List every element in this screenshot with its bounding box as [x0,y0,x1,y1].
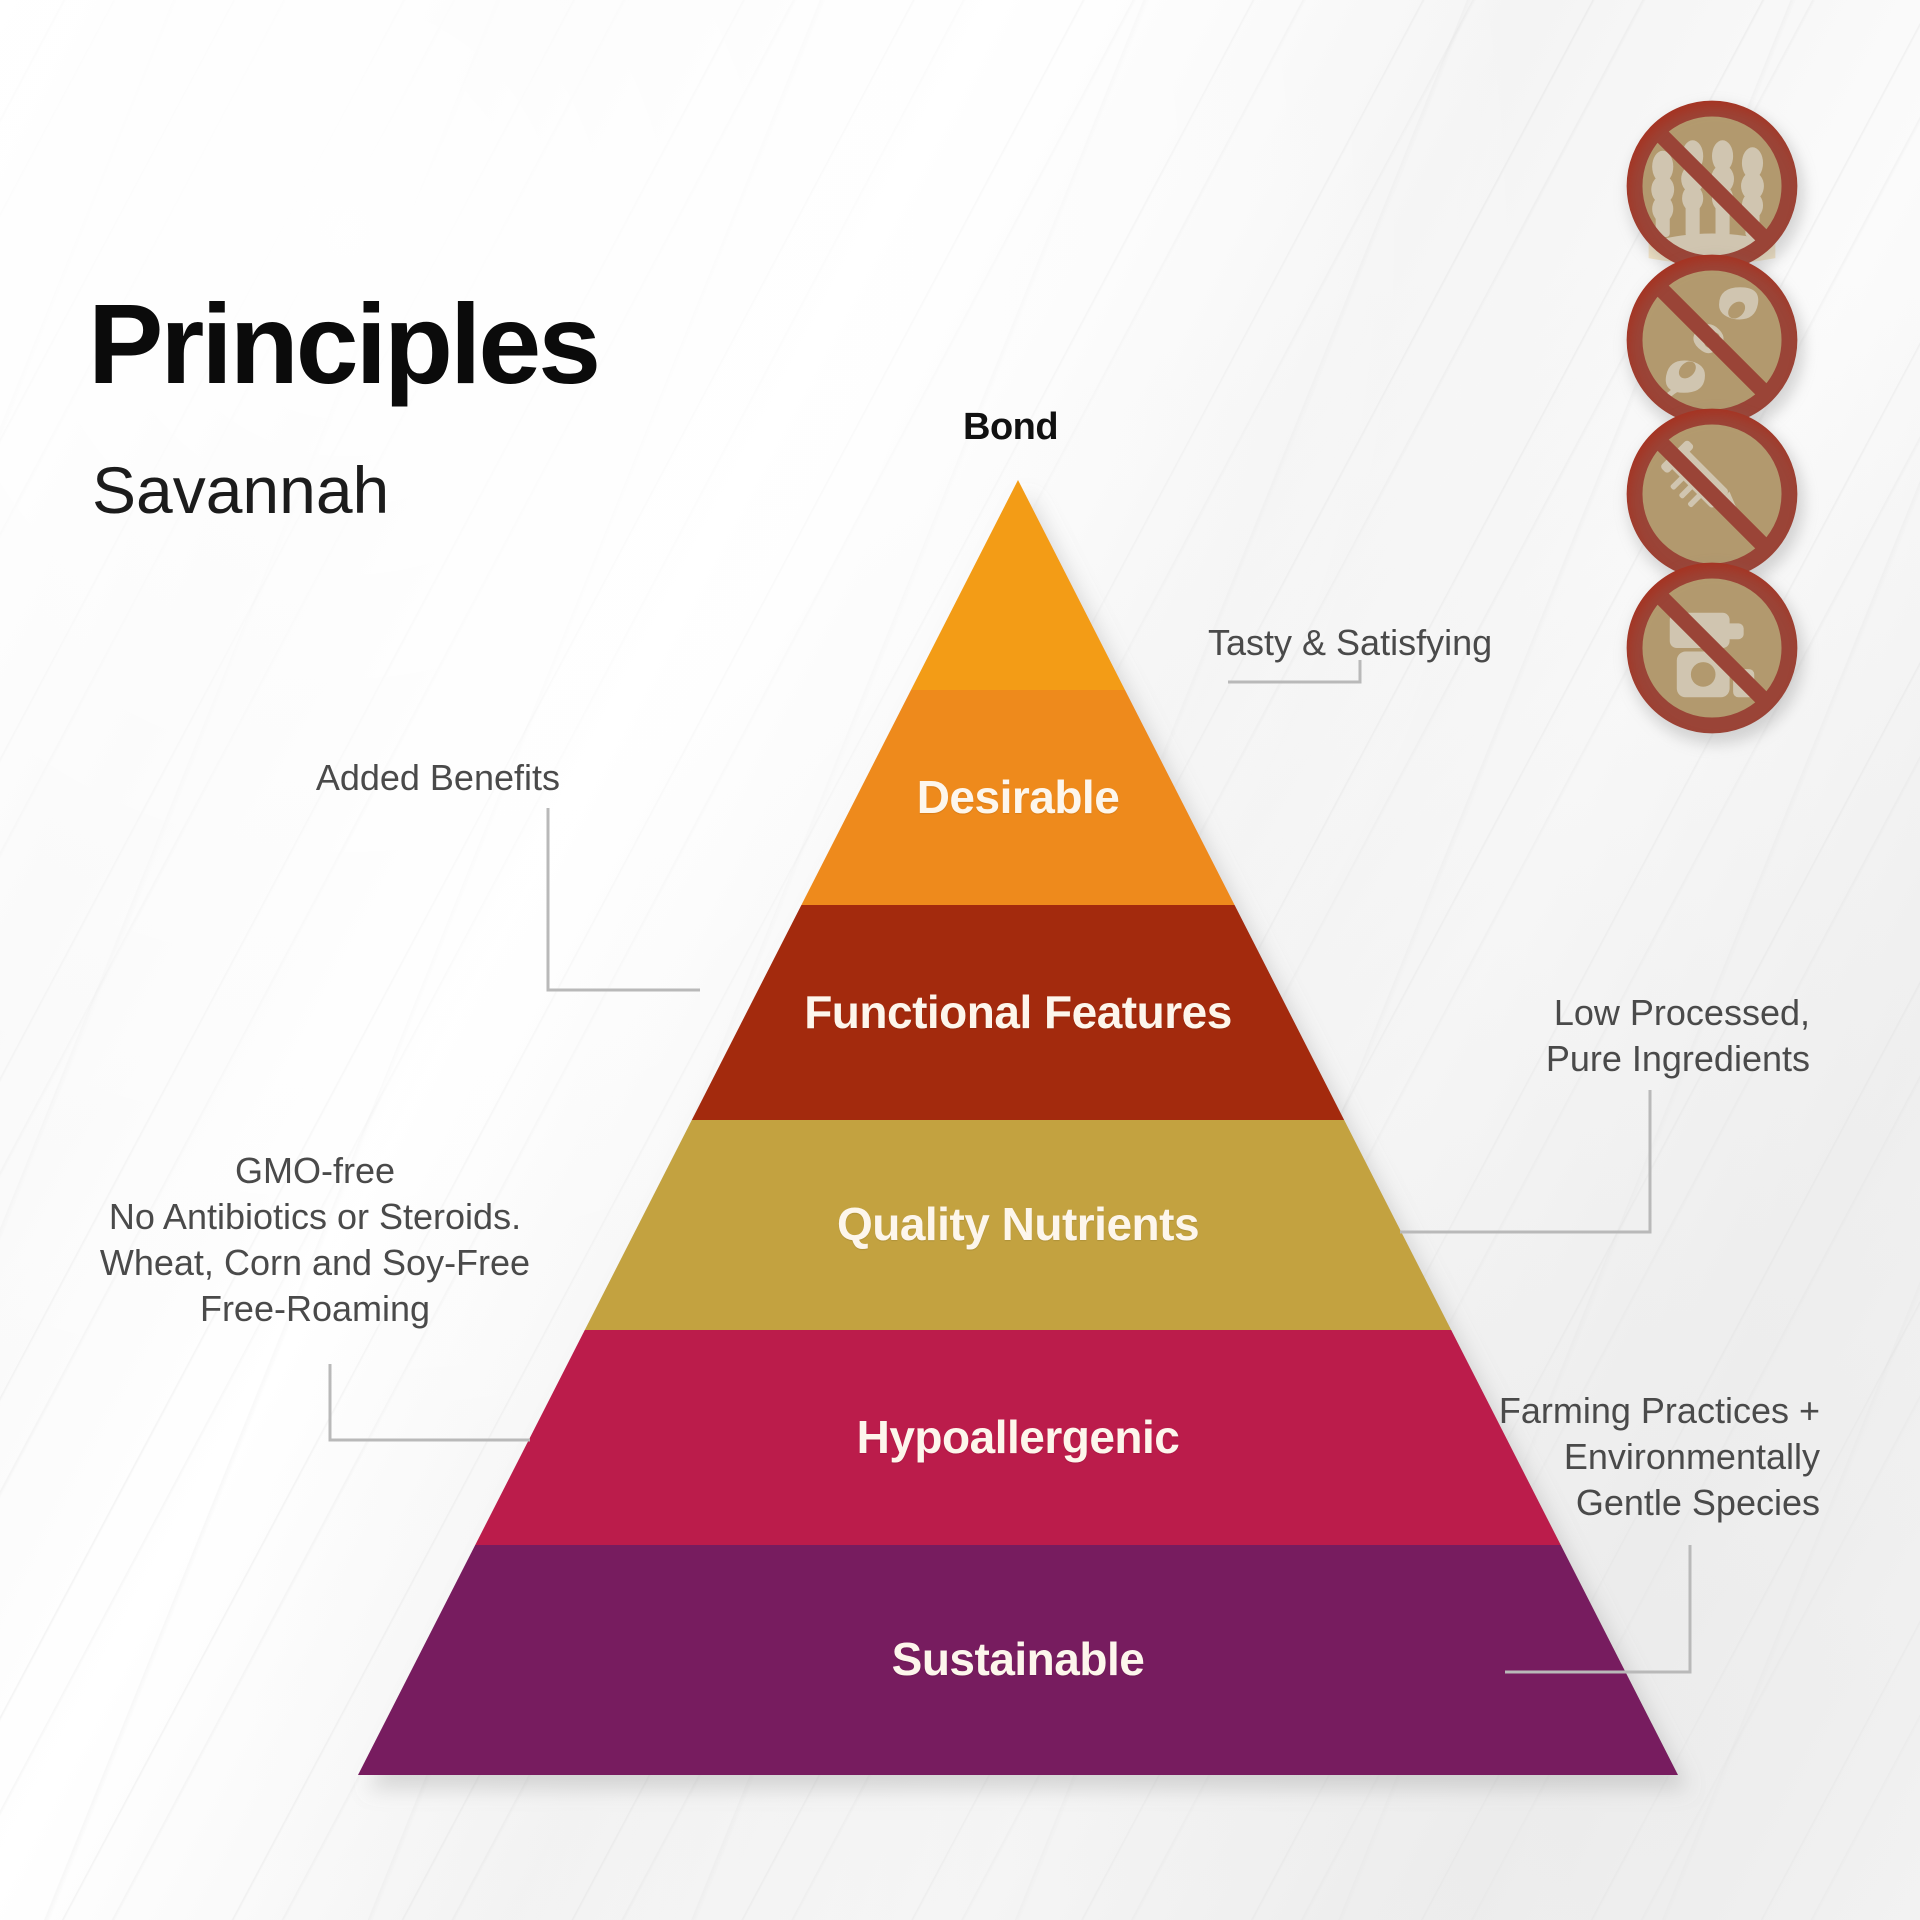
badge-no-wheat[interactable] [1624,98,1800,274]
pyramid-tier-3-shape[interactable] [585,1120,1451,1330]
annotation-tasty-satisfying: Tasty & Satisfying [1208,620,1568,666]
leader-low-processed [1400,1090,1650,1232]
leader-added-benefits [548,808,700,990]
badge-shadow [1628,568,1804,744]
pyramid-tier-1-shape[interactable] [801,690,1234,905]
annotation-farming-practices: Farming Practices + Environmentally Gent… [1380,1388,1820,1526]
badge-no-additives[interactable] [1624,560,1800,736]
infographic-canvas: Principles Savannah [0,0,1920,1920]
leader-gmo-free [330,1364,530,1440]
badge-no-antibiotics[interactable] [1624,406,1800,582]
annotation-added-benefits: Added Benefits [300,755,560,801]
annotation-low-processed: Low Processed, Pure Ingredients [1340,990,1810,1082]
badge-no-soy[interactable] [1624,252,1800,428]
pyramid-apex-label: Bond [963,406,1058,449]
pyramid-apex-cap-shape [911,480,1125,690]
pyramid-tier-5-shape[interactable] [358,1545,1678,1775]
pyramid-tier-2-shape[interactable] [692,905,1344,1120]
annotation-gmo-free: GMO-free No Antibiotics or Steroids. Whe… [50,1148,580,1332]
